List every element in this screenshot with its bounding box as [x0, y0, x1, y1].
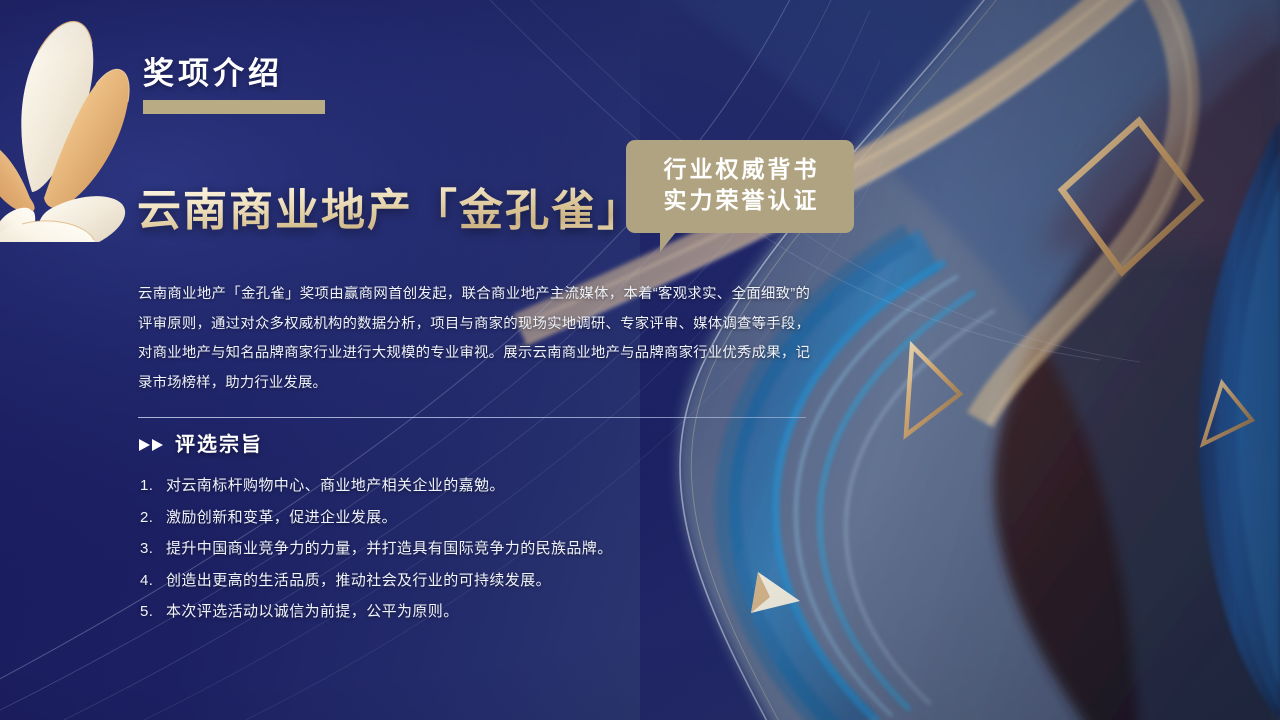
list-item-number: 4. [140, 573, 166, 588]
purpose-section-title: 评选宗旨 [175, 435, 263, 455]
bubble-tail [660, 232, 676, 252]
list-item-text: 对云南标杆购物中心、商业地产相关企业的嘉勉。 [166, 478, 840, 493]
list-item-number: 1. [140, 478, 166, 493]
slide-content: 奖项介绍 云南商业地产「金孔雀」 行业权威背书 实力荣誉认证 云南商业地产「金孔… [0, 0, 1280, 720]
purpose-list: 1. 对云南标杆购物中心、商业地产相关企业的嘉勉。 2. 激励创新和变革，促进企… [140, 478, 840, 636]
list-item: 3. 提升中国商业竞争力的力量，并打造具有国际竞争力的民族品牌。 [140, 541, 840, 556]
list-item-number: 3. [140, 541, 166, 556]
list-item-text: 激励创新和变革，促进企业发展。 [166, 510, 840, 525]
title-underline-bar [143, 100, 325, 114]
award-description: 云南商业地产「金孔雀」奖项由赢商网首创发起，联合商业地产主流媒体，本着“客观求实… [138, 280, 810, 398]
slide-canvas: 奖项介绍 云南商业地产「金孔雀」 行业权威背书 实力荣誉认证 云南商业地产「金孔… [0, 0, 1280, 720]
list-item: 2. 激励创新和变革，促进企业发展。 [140, 510, 840, 525]
list-item-text: 提升中国商业竞争力的力量，并打造具有国际竞争力的民族品牌。 [166, 541, 840, 556]
list-item-text: 本次评选活动以诚信为前提，公平为原则。 [166, 604, 840, 619]
list-item: 4. 创造出更高的生活品质，推动社会及行业的可持续发展。 [140, 573, 840, 588]
page-title: 奖项介绍 [143, 58, 283, 89]
purpose-section-header: 评选宗旨 [139, 435, 263, 455]
authority-badge-bubble: 行业权威背书 实力荣誉认证 [626, 140, 854, 233]
badge-line-1: 行业权威背书 [626, 154, 854, 185]
double-right-arrow-icon [139, 438, 165, 452]
list-item: 1. 对云南标杆购物中心、商业地产相关企业的嘉勉。 [140, 478, 840, 493]
list-item-text: 创造出更高的生活品质，推动社会及行业的可持续发展。 [166, 573, 840, 588]
badge-line-2: 实力荣誉认证 [626, 185, 854, 216]
list-item-number: 5. [140, 604, 166, 619]
section-divider [138, 417, 806, 418]
page-title-block: 奖项介绍 [143, 58, 283, 89]
list-item-number: 2. [140, 510, 166, 525]
list-item: 5. 本次评选活动以诚信为前提，公平为原则。 [140, 604, 840, 619]
award-headline: 云南商业地产「金孔雀」 [137, 185, 643, 237]
